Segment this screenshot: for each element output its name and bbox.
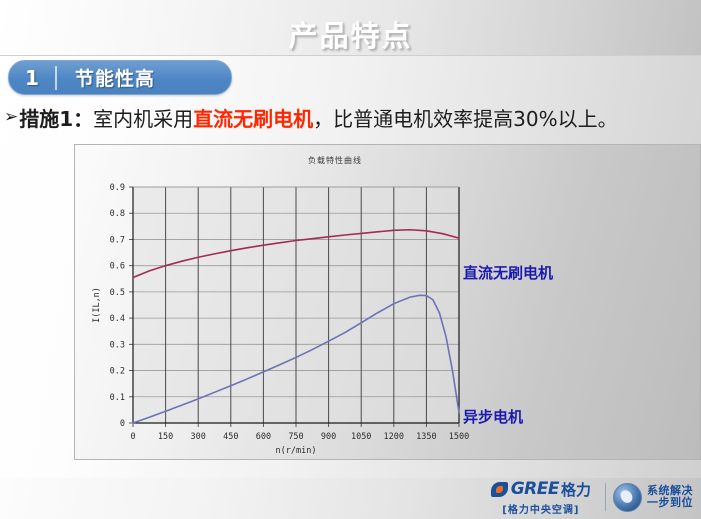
bullet-highlight: 直流无刷电机 (193, 103, 313, 132)
gree-wordmark: GREE (511, 479, 559, 499)
svg-text:I(IL,n): I(IL,n) (92, 287, 102, 323)
svg-text:0.3: 0.3 (110, 340, 125, 350)
svg-text:0.2: 0.2 (110, 367, 125, 377)
svg-text:0: 0 (120, 419, 125, 429)
bullet-measure-label: 措施1： (19, 103, 93, 132)
svg-text:600: 600 (256, 432, 271, 442)
page-title: 产品特点 (0, 13, 701, 55)
globe-icon (613, 483, 642, 512)
bullet-text-lead: 室内机采用 (93, 103, 193, 132)
gree-swoosh-icon (491, 482, 508, 497)
load-characteristic-chart: 00.10.20.30.40.50.60.70.80.9015030045060… (75, 145, 701, 461)
svg-text:450: 450 (223, 432, 238, 442)
svg-text:0.9: 0.9 (110, 183, 125, 193)
svg-text:1200: 1200 (384, 432, 404, 442)
svg-text:0: 0 (130, 432, 135, 442)
brand-group: GREE 格力 [格力中央空调] 系统解决 一步到位 (491, 479, 693, 515)
bullet-arrow-icon: ➢ (4, 107, 18, 127)
pill-divider (55, 66, 57, 90)
svg-text:300: 300 (191, 432, 206, 442)
svg-text:0.8: 0.8 (110, 209, 125, 219)
svg-text:150: 150 (158, 432, 173, 442)
section-label: 节能性高 (57, 64, 231, 91)
slogan-block: 系统解决 一步到位 (647, 485, 693, 509)
svg-text:0.5: 0.5 (110, 288, 125, 298)
title-band: 产品特点 (0, 0, 701, 56)
svg-text:900: 900 (321, 432, 336, 442)
brand-divider (605, 483, 606, 511)
svg-text:1500: 1500 (449, 432, 469, 442)
gree-logo: GREE 格力 [格力中央空调] (491, 479, 591, 516)
gree-subtitle: [格力中央空调] (502, 501, 579, 516)
svg-text:0.6: 0.6 (110, 262, 125, 272)
section-number: 1 (9, 66, 55, 90)
gree-wordmark-cn: 格力 (561, 479, 591, 500)
bullet-line: ➢ 措施1： 室内机采用 直流无刷电机 ，比普通电机效率提高30%以上。 (4, 100, 701, 134)
svg-text:0.7: 0.7 (110, 235, 125, 245)
legend-label-async-motor: 异步电机 (463, 406, 523, 427)
slogan-line-2: 一步到位 (647, 497, 693, 509)
bullet-text-tail: ，比普通电机效率提高30%以上。 (313, 103, 617, 132)
chart-panel: 负载特性曲线 00.10.20.30.40.50.60.70.80.901503… (74, 144, 701, 460)
svg-text:n(r/min): n(r/min) (276, 446, 317, 456)
svg-text:0.1: 0.1 (110, 393, 125, 403)
svg-text:1050: 1050 (351, 432, 371, 442)
gree-logo-row: GREE 格力 (491, 479, 591, 500)
svg-text:1350: 1350 (416, 432, 436, 442)
footer-bar: GREE 格力 [格力中央空调] 系统解决 一步到位 (0, 478, 701, 519)
section-pill[interactable]: 1 节能性高 (8, 60, 232, 95)
svg-text:750: 750 (288, 432, 303, 442)
legend-label-dc-motor: 直流无刷电机 (463, 262, 553, 283)
svg-text:0.4: 0.4 (110, 314, 125, 324)
